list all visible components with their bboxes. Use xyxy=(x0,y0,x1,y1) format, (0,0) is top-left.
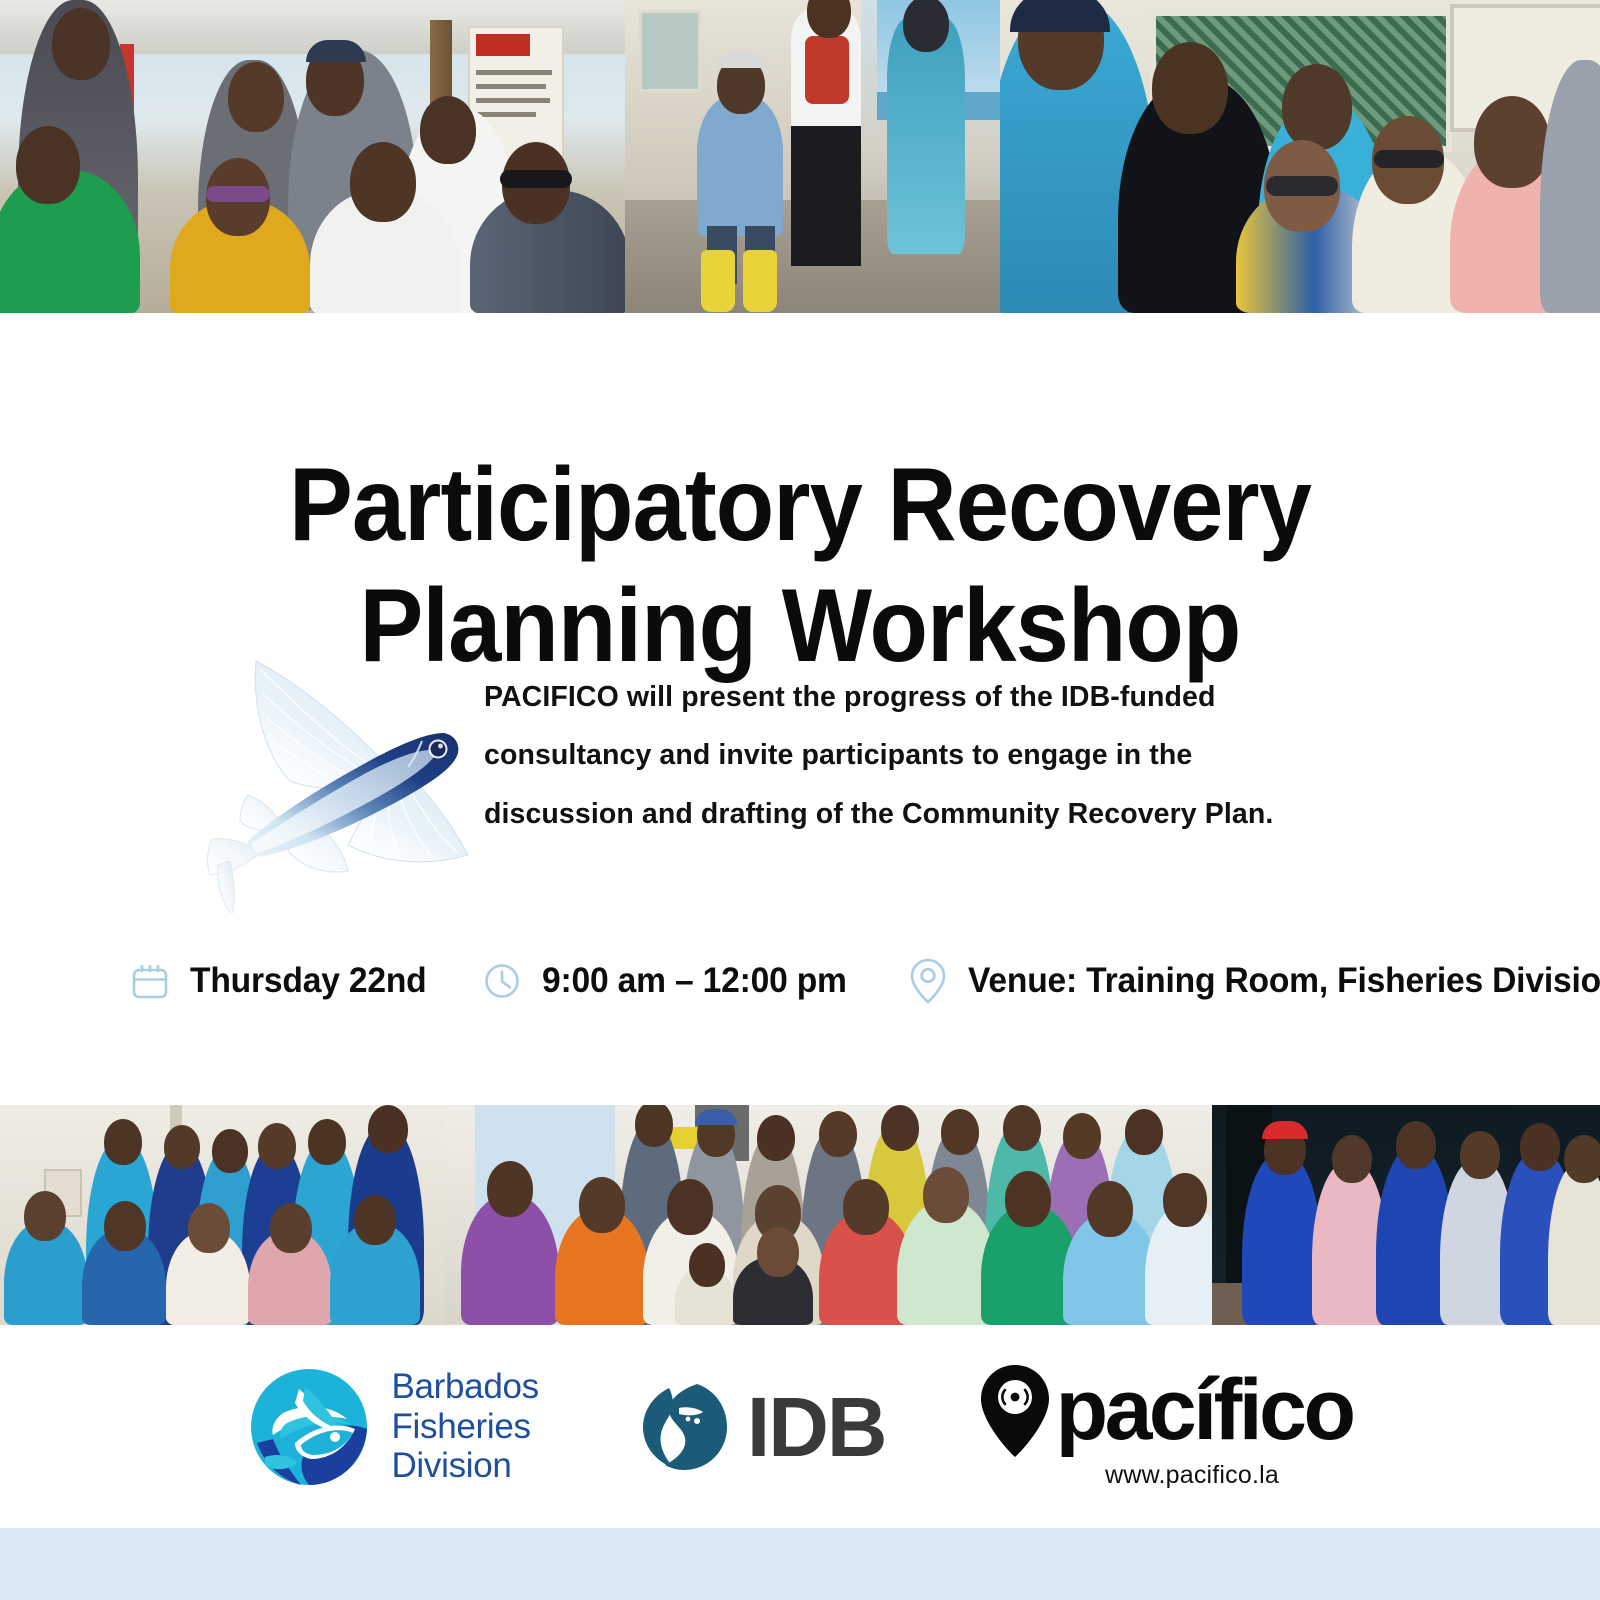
event-details-row: Thursday 22nd 9:00 am – 12:00 pm xyxy=(0,941,1600,1021)
pacifico-url: www.pacifico.la xyxy=(1051,1461,1279,1490)
flying-fish-illustration xyxy=(186,623,486,913)
photo-top-1 xyxy=(0,0,625,313)
detail-venue-label: Venue: Training Room, Fisheries Division xyxy=(968,961,1600,1001)
top-photo-strip xyxy=(0,0,1600,313)
idb-wordmark: IDB xyxy=(747,1385,886,1469)
description-row: PACIFICO will present the progress of th… xyxy=(0,613,1600,913)
detail-venue: Venue: Training Room, Fisheries Division xyxy=(906,956,1600,1006)
photo-bottom-2 xyxy=(445,1105,1212,1325)
pacifico-pin-logo-icon xyxy=(978,1363,1052,1459)
bfd-line-1: Barbados xyxy=(391,1367,538,1407)
poster-canvas: Participatory Recovery Planning Workshop xyxy=(0,0,1600,1600)
calendar-icon xyxy=(128,959,172,1003)
detail-time: 9:00 am – 12:00 pm xyxy=(480,959,859,1003)
logo-bar: Barbados Fisheries Division IDB xyxy=(0,1325,1600,1528)
idb-globe-logo-icon xyxy=(635,1378,733,1476)
barbados-fisheries-division-text: Barbados Fisheries Division xyxy=(391,1367,538,1486)
photo-top-2 xyxy=(625,0,1000,313)
pacifico-wordmark: pacífico xyxy=(1056,1370,1353,1452)
description-text: PACIFICO will present the progress of th… xyxy=(484,668,1344,844)
page-title-line-1: Participatory Recovery xyxy=(64,445,1536,567)
pacifico-logo: pacífico www.pacifico.la xyxy=(978,1363,1353,1490)
clock-icon xyxy=(480,959,524,1003)
idb-logo: IDB xyxy=(635,1378,886,1476)
photo-top-3 xyxy=(1000,0,1600,313)
bfd-line-2: Fisheries xyxy=(391,1407,538,1447)
main-content: Participatory Recovery Planning Workshop xyxy=(0,313,1600,1105)
barbados-fisheries-fish-logo-icon xyxy=(247,1365,371,1489)
footer-band xyxy=(0,1528,1600,1600)
bfd-line-3: Division xyxy=(391,1446,538,1486)
detail-time-label: 9:00 am – 12:00 pm xyxy=(542,961,847,1001)
barbados-fisheries-division-logo: Barbados Fisheries Division xyxy=(247,1365,538,1489)
photo-bottom-3 xyxy=(1212,1105,1600,1325)
bottom-photo-strip xyxy=(0,1105,1600,1325)
location-pin-icon xyxy=(906,956,950,1006)
detail-date: Thursday 22nd xyxy=(128,959,436,1003)
detail-date-label: Thursday 22nd xyxy=(190,961,427,1001)
photo-bottom-1 xyxy=(0,1105,445,1325)
